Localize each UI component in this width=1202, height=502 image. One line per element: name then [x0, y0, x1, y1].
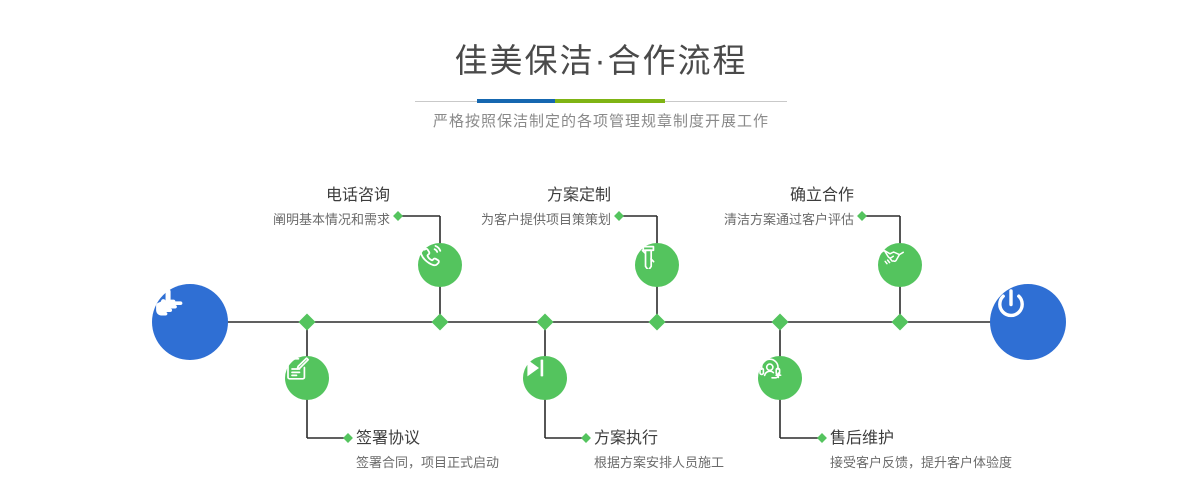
step-desc: 清洁方案通过客户评估: [724, 213, 854, 226]
label-diamond-top-1: [393, 211, 403, 221]
label-diamond-top-3: [857, 211, 867, 221]
step-node-partnership[interactable]: [878, 243, 922, 287]
label-diamond-top-2: [614, 211, 624, 221]
title-divider: [415, 99, 787, 103]
label-diamond-bottom-1: [343, 433, 353, 443]
step-title: 方案定制: [481, 188, 611, 204]
step-title: 电话咨询: [273, 188, 390, 204]
step-node-after-sales[interactable]: [758, 356, 802, 400]
divider-segment-green: [555, 99, 665, 103]
infographic-canvas: 佳美保洁·合作流程 严格按照保洁制定的各项管理规章制度开展工作: [0, 0, 1202, 502]
step-title: 签署协议: [356, 431, 499, 447]
label-diamond-bottom-2: [581, 433, 591, 443]
step-node-execute-plan[interactable]: [523, 356, 567, 400]
step-desc: 根据方案安排人员施工: [594, 456, 724, 469]
flow-start-node[interactable]: [152, 284, 228, 360]
step-label-phone-call: 电话咨询 阐明基本情况和需求: [273, 188, 390, 226]
step-label-sign-agreement: 签署协议 签署合同，项目正式启动: [356, 431, 499, 469]
process-flow-diagram: 电话咨询 阐明基本情况和需求 方案定制 为客户提供项目策策划 确立合作 清洁方案…: [0, 150, 1202, 502]
spine-diamond-6: [892, 314, 909, 331]
step-label-after-sales: 售后维护 接受客户反馈，提升客户体验度: [830, 431, 1012, 469]
spine-diamond-1: [299, 314, 316, 331]
step-desc: 阐明基本情况和需求: [273, 213, 390, 226]
step-node-sign-agreement[interactable]: [285, 356, 329, 400]
step-label-plan-design: 方案定制 为客户提供项目策策划: [481, 188, 611, 226]
step-desc: 为客户提供项目策策划: [481, 213, 611, 226]
step-node-plan-design[interactable]: [635, 243, 679, 287]
step-title: 售后维护: [830, 431, 1012, 447]
label-diamond-bottom-3: [817, 433, 827, 443]
step-desc: 签署合同，项目正式启动: [356, 456, 499, 469]
spine-diamond-4: [649, 314, 666, 331]
spine-diamond-5: [772, 314, 789, 331]
step-node-phone-call[interactable]: [418, 243, 462, 287]
spine-diamond-3: [537, 314, 554, 331]
step-label-execute-plan: 方案执行 根据方案安排人员施工: [594, 431, 724, 469]
step-title: 确立合作: [724, 188, 854, 204]
step-desc: 接受客户反馈，提升客户体验度: [830, 456, 1012, 469]
divider-segment-blue: [477, 99, 555, 103]
page-subtitle: 严格按照保洁制定的各项管理规章制度开展工作: [0, 114, 1202, 129]
page-header: 佳美保洁·合作流程 严格按照保洁制定的各项管理规章制度开展工作: [0, 0, 1202, 129]
step-title: 方案执行: [594, 431, 724, 447]
spine-diamond-2: [432, 314, 449, 331]
step-label-partnership: 确立合作 清洁方案通过客户评估: [724, 188, 854, 226]
page-title: 佳美保洁·合作流程: [0, 44, 1202, 77]
flow-end-node[interactable]: [990, 284, 1066, 360]
